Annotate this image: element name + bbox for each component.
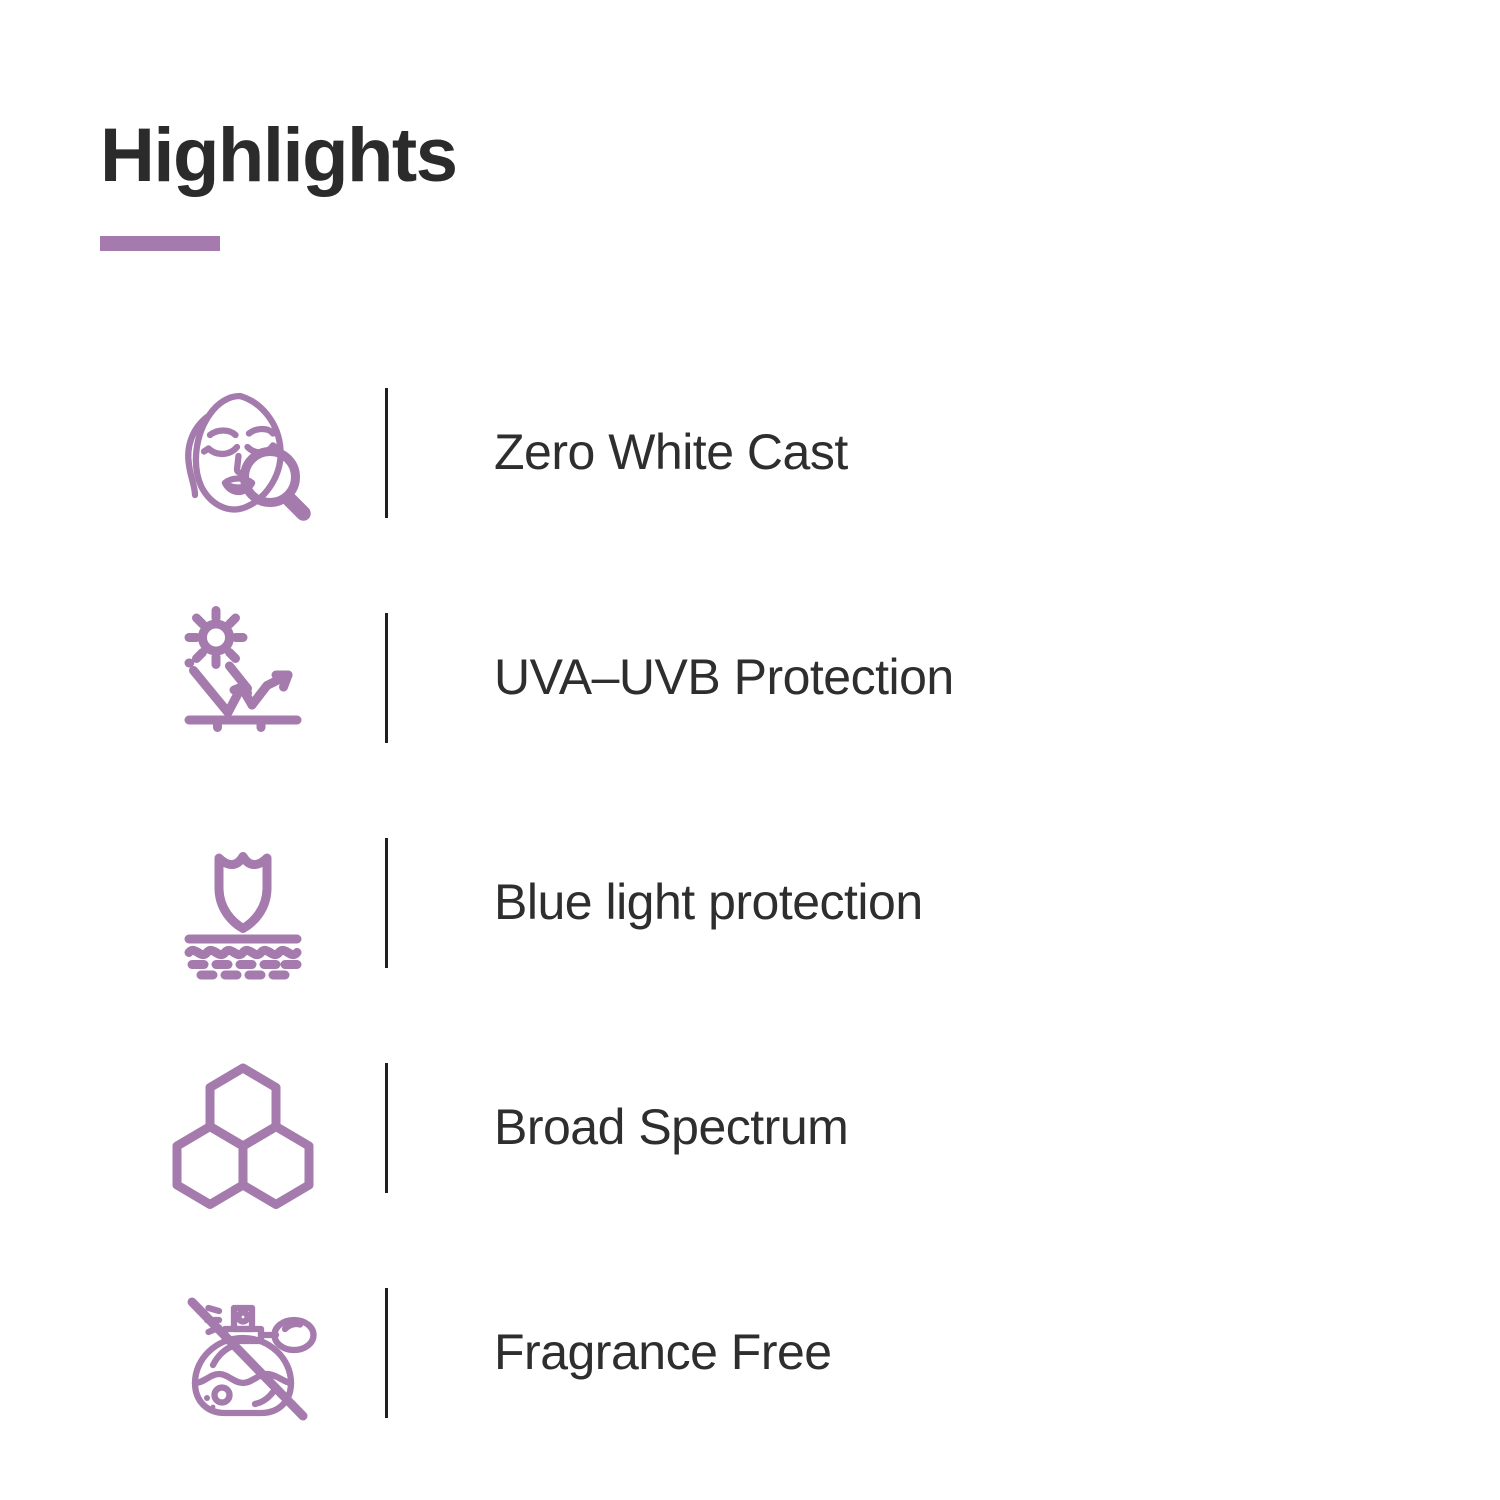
highlight-item: Broad Spectrum <box>100 1015 1400 1240</box>
highlight-item: Fragrance Free <box>100 1240 1400 1465</box>
highlight-label-cell: Fragrance Free <box>388 1325 1400 1380</box>
accent-underline-bar <box>100 236 220 251</box>
highlight-label: UVA–UVB Protection <box>494 650 954 705</box>
perfume-bottle-no-fragrance-icon <box>100 1278 385 1428</box>
highlight-label-cell: Zero White Cast <box>388 425 1400 480</box>
page-title: Highlights <box>100 118 457 194</box>
face-magnifier-icon <box>100 378 385 528</box>
honeycomb-hexagons-icon <box>100 1053 385 1203</box>
highlight-item: Zero White Cast <box>100 340 1400 565</box>
highlight-label: Blue light protection <box>494 875 923 930</box>
shield-skin-layers-icon <box>100 828 385 978</box>
highlight-label: Fragrance Free <box>494 1325 832 1380</box>
highlight-label-cell: Broad Spectrum <box>388 1100 1400 1155</box>
highlight-item: Blue light protection <box>100 790 1400 1015</box>
sun-uv-rays-deflect-icon <box>100 603 385 753</box>
highlights-list: Zero White Cast <box>100 340 1400 1465</box>
highlight-label: Broad Spectrum <box>494 1100 848 1155</box>
highlight-label: Zero White Cast <box>494 425 848 480</box>
highlight-label-cell: Blue light protection <box>388 875 1400 930</box>
highlight-label-cell: UVA–UVB Protection <box>388 650 1400 705</box>
highlight-item: UVA–UVB Protection <box>100 565 1400 790</box>
header: Highlights <box>100 118 457 251</box>
highlights-page: Highlights <box>0 0 1500 1500</box>
